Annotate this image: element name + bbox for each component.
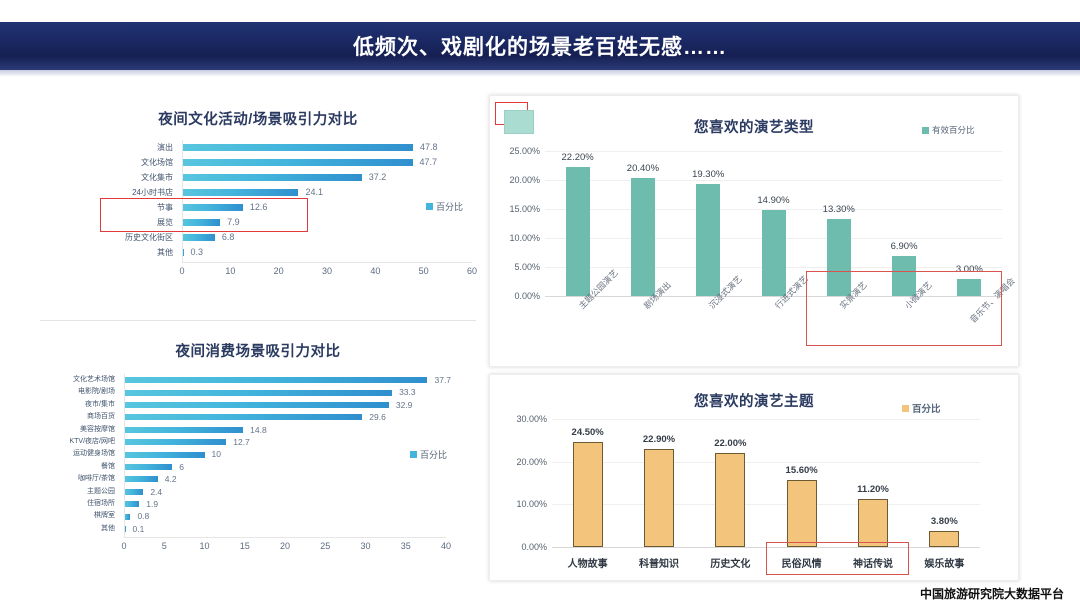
x-axis-tick-label: 30 — [360, 541, 370, 551]
bar-value-label: 1.9 — [142, 498, 158, 510]
bar-value-label: 37.7 — [430, 374, 451, 386]
bar-value-label: 15.60% — [786, 465, 818, 476]
legend-label: 百分比 — [436, 200, 463, 213]
x-axis-tick-label: 60 — [467, 266, 477, 276]
header-shadow — [0, 70, 1080, 77]
vertical-bar-chart-performance-theme: 0.00%10.00%20.00%30.00%24.50%人物故事22.90%科… — [490, 375, 1018, 580]
bar-segment — [631, 178, 655, 296]
bar-category-label: 文化集市 — [141, 170, 178, 185]
chart-legend: 百分比 — [426, 200, 463, 213]
y-axis-tick-label: 5.00% — [514, 262, 540, 272]
bar-segment — [696, 184, 720, 296]
bar-segment — [762, 210, 786, 296]
bar-value-label: 11.20% — [857, 484, 889, 495]
x-axis-tick-label: 0 — [179, 266, 184, 276]
bar-segment — [182, 174, 362, 182]
y-axis-tick-label: 10.00% — [509, 233, 540, 243]
bar-category-label: KTV/夜店/网吧 — [69, 436, 120, 448]
bar-value-label: 3.80% — [931, 516, 958, 527]
grid-line — [545, 151, 1002, 152]
highlight-annotation-box — [806, 271, 1002, 346]
bar-value-label: 6.8 — [218, 230, 235, 245]
bar-segment — [124, 464, 172, 470]
x-axis-category-label: 科普知识 — [639, 555, 679, 570]
bar-category-label: 餐馆 — [101, 461, 120, 473]
bar-segment — [858, 499, 888, 547]
page-title: 低频次、戏剧化的场景老百姓无感…… — [353, 31, 727, 61]
bar-value-label: 47.8 — [416, 140, 438, 155]
bar-value-label: 47.7 — [416, 155, 438, 170]
chart-legend: 百分比 — [410, 448, 447, 461]
bar-segment — [124, 501, 139, 507]
legend-swatch — [410, 451, 417, 458]
vertical-bar-chart-performance-type: 0.00%5.00%10.00%15.00%20.00%25.00%22.20%… — [490, 96, 1018, 366]
grid-line — [552, 419, 980, 420]
bar-value-label: 2.4 — [146, 486, 162, 498]
bar-category-label: 夜市/集市 — [85, 399, 120, 411]
bar-segment — [182, 234, 215, 242]
bar-value-label: 14.8 — [246, 424, 267, 436]
bar-segment — [124, 439, 226, 445]
bar-category-label: 运动健身场馆 — [73, 448, 120, 460]
bar-category-label: 商场百货 — [87, 411, 120, 423]
legend-swatch — [922, 127, 929, 134]
x-axis-tick-label: 50 — [419, 266, 429, 276]
bar-segment — [715, 453, 745, 547]
chart-panel-night-consumption: 夜间消费场景吸引力对比 文化艺术场馆37.7电影院/剧场33.3夜市/集市32.… — [34, 322, 482, 584]
bar-category-label: 其他 — [157, 245, 178, 260]
x-axis-tick-label: 5 — [162, 541, 167, 551]
bar-value-label: 14.90% — [757, 195, 789, 206]
x-axis-tick-label: 15 — [240, 541, 250, 551]
y-axis-tick-label: 25.00% — [509, 146, 540, 156]
x-axis-tick-label: 10 — [225, 266, 235, 276]
bar-value-label: 0.8 — [133, 510, 149, 522]
x-axis-category-label: 历史文化 — [710, 555, 750, 570]
bar-category-label: 演出 — [157, 140, 178, 155]
bar-segment — [787, 480, 817, 547]
y-axis-tick-label: 0.00% — [521, 542, 547, 552]
bar-segment — [566, 167, 590, 296]
legend-label: 有效百分比 — [932, 124, 975, 136]
chart-panel-performance-type: 您喜欢的演艺类型 0.00%5.00%10.00%15.00%20.00%25.… — [489, 95, 1019, 367]
bar-value-label: 32.9 — [392, 399, 413, 411]
bar-segment — [182, 159, 413, 167]
bar-category-label: 电影院/剧场 — [78, 386, 120, 398]
y-axis-tick-label: 10.00% — [516, 499, 547, 509]
legend-label: 百分比 — [420, 448, 447, 461]
bar-segment — [124, 390, 392, 396]
bar-value-label: 6 — [175, 461, 184, 473]
bar-value-label: 19.30% — [692, 169, 724, 180]
bar-value-label: 37.2 — [365, 170, 387, 185]
bar-value-label: 22.90% — [643, 434, 675, 445]
bar-segment — [124, 427, 243, 433]
x-axis-line — [182, 262, 472, 263]
bar-category-label: 文化场馆 — [141, 155, 178, 170]
x-axis-tick-label: 40 — [441, 541, 451, 551]
x-axis-line — [124, 537, 446, 538]
chart-legend: 有效百分比 — [922, 124, 975, 136]
bar-category-label: 文化艺术场馆 — [73, 374, 120, 386]
y-axis-tick-label: 0.00% — [514, 291, 540, 301]
chart-legend: 百分比 — [902, 401, 941, 415]
chart-panel-night-culture: 夜间文化活动/场景吸引力对比 演出47.8文化场馆47.7文化集市37.224小… — [34, 92, 482, 320]
bar-category-label: 主题公园 — [87, 486, 120, 498]
x-axis-tick-label: 0 — [121, 541, 126, 551]
bar-segment — [124, 377, 427, 383]
x-axis-category-label: 娱乐故事 — [924, 555, 964, 570]
slide-header-bar: 低频次、戏剧化的场景老百姓无感…… — [0, 22, 1080, 70]
x-axis-category-label: 人物故事 — [568, 555, 608, 570]
bar-value-label: 24.50% — [572, 427, 604, 438]
y-axis-tick-label: 20.00% — [509, 175, 540, 185]
y-axis-tick-label: 30.00% — [516, 414, 547, 424]
bar-value-label: 10 — [208, 448, 221, 460]
slide-root: 低频次、戏剧化的场景老百姓无感…… 夜间文化活动/场景吸引力对比 演出47.8文… — [0, 0, 1080, 608]
horizontal-bar-chart-night-culture: 演出47.8文化场馆47.7文化集市37.224小时书店24.1节事12.6展览… — [34, 92, 482, 320]
legend-swatch — [426, 203, 433, 210]
bar-value-label: 22.00% — [714, 438, 746, 449]
panel-divider — [40, 320, 476, 321]
bar-value-label: 12.7 — [229, 436, 250, 448]
bar-value-label: 33.3 — [395, 386, 416, 398]
bar-value-label: 29.6 — [365, 411, 386, 423]
grid-line — [552, 504, 980, 505]
marker-teal-square — [504, 110, 534, 134]
bar-value-label: 0.1 — [129, 523, 145, 535]
bar-value-label: 20.40% — [627, 163, 659, 174]
highlight-annotation-box — [100, 198, 308, 232]
bar-segment — [182, 189, 298, 197]
x-axis-tick-label: 25 — [320, 541, 330, 551]
bar-value-label: 0.3 — [187, 245, 204, 260]
chart-panel-performance-theme: 您喜欢的演艺主题 0.00%10.00%20.00%30.00%24.50%人物… — [489, 374, 1019, 581]
legend-label: 百分比 — [912, 401, 941, 415]
bar-value-label: 4.2 — [161, 473, 177, 485]
bar-segment — [182, 144, 413, 152]
bar-category-label: 美容按摩馆 — [80, 424, 120, 436]
horizontal-bar-chart-night-consumption: 文化艺术场馆37.7电影院/剧场33.3夜市/集市32.9商场百货29.6美容按… — [34, 322, 482, 584]
bar-segment — [124, 402, 389, 408]
x-axis-tick-label: 30 — [322, 266, 332, 276]
grid-line — [545, 180, 1002, 181]
x-axis-tick-label: 40 — [370, 266, 380, 276]
x-axis-tick-label: 35 — [401, 541, 411, 551]
bar-segment — [124, 489, 143, 495]
x-axis-tick-label: 20 — [280, 541, 290, 551]
legend-swatch — [902, 405, 909, 412]
bar-category-label: 其他 — [101, 523, 120, 535]
highlight-annotation-box — [766, 542, 909, 575]
x-axis-tick-label: 20 — [274, 266, 284, 276]
bar-segment — [124, 476, 158, 482]
bar-category-label: 棋牌室 — [94, 510, 120, 522]
y-axis-tick-label: 15.00% — [509, 204, 540, 214]
bar-segment — [929, 531, 959, 547]
bar-segment — [644, 449, 674, 547]
x-axis-tick-label: 10 — [199, 541, 209, 551]
bar-value-label: 13.30% — [823, 204, 855, 215]
bar-category-label: 历史文化街区 — [125, 230, 178, 245]
footer-branding: 中国旅游研究院大数据平台 — [920, 585, 1064, 602]
bar-value-label: 6.90% — [891, 241, 918, 252]
bar-value-label: 22.20% — [562, 152, 594, 163]
bar-segment — [573, 442, 603, 547]
bar-category-label: 住宿场所 — [87, 498, 120, 510]
y-axis-line — [124, 374, 125, 537]
bar-segment — [124, 414, 362, 420]
y-axis-tick-label: 20.00% — [516, 457, 547, 467]
bar-category-label: 咖啡厅/茶馆 — [78, 473, 120, 485]
grid-line — [552, 462, 980, 463]
bar-segment — [124, 452, 205, 458]
